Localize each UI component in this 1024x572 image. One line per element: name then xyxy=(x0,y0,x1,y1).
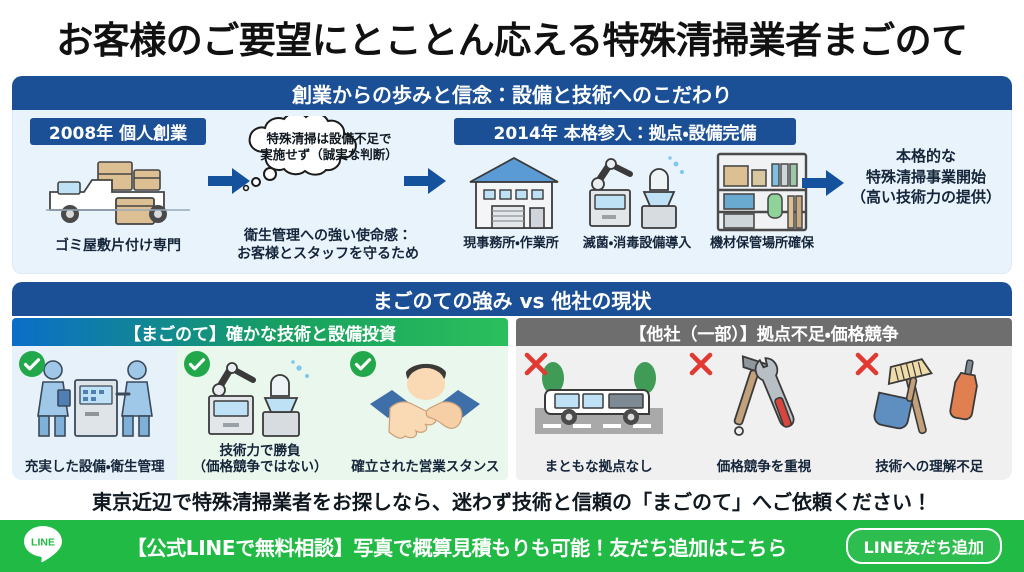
bad-item-1-line1: まともな拠点なし xyxy=(545,459,653,475)
bad-item-3-line1: 技術への理解不足 xyxy=(875,459,983,475)
cross-icon xyxy=(522,350,550,382)
good-item-3-line1: 確立された営業スタンス xyxy=(351,459,499,475)
timeline-outcome: 本格的な 特殊清掃事業開始 （高い技術力の提供） xyxy=(840,146,1012,208)
badge-2008: 2008年 個人創業 xyxy=(30,118,206,145)
bad-item-2: 価格競争を重視 xyxy=(681,346,846,480)
cross-icon xyxy=(853,350,881,382)
bad-item-3-label: 技術への理解不足 xyxy=(875,459,983,475)
closing-tagline: 東京近辺で特殊清掃業者をお探しなら、迷わず技術と信頼の「まごのて」へご依頼くださ… xyxy=(0,484,1024,516)
line-logo-icon: LINE xyxy=(22,524,64,568)
truck-caption: ゴミ屋敷片付け専門 xyxy=(30,238,206,256)
column-magonote-header: 【まごのて】確かな技術と設備投資 xyxy=(12,318,508,346)
storage-caption: 機材保管場所確保 xyxy=(702,236,822,252)
mission-line-2: お客様とスタッフを守るため xyxy=(228,246,428,264)
timeline-heading: 創業からの歩みと信念：設備と技術へのこだわり xyxy=(12,76,1012,110)
warehouse-icon xyxy=(464,152,564,236)
good-item-2: 技術力で勝負 （価格競争ではない） xyxy=(177,346,342,480)
bad-item-3: 技術への理解不足 xyxy=(847,346,1012,480)
storage-shelf-icon xyxy=(712,150,812,238)
page-title: お客様のご要望にとことん応える特殊清掃業者まごのて xyxy=(0,6,1024,68)
badge-2014: 2014年 本格参入：拠点・設備完備 xyxy=(454,118,796,145)
column-competitors: 【他社（一部）】拠点不足・価格競争 xyxy=(516,318,1012,480)
column-magonote: 【まごのて】確かな技術と設備投資 xyxy=(12,318,508,480)
outcome-line-3: （高い技術力の提供） xyxy=(840,187,1012,208)
warehouse-caption: 現事務所・作業所 xyxy=(452,236,570,252)
timeline-panel: 創業からの歩みと信念：設備と技術へのこだわり 2008年 個人創業 xyxy=(12,76,1012,274)
bad-item-1: まともな拠点なし xyxy=(516,346,681,480)
outcome-line-1: 本格的な xyxy=(840,146,1012,167)
good-item-2-label: 技術力で勝負 （価格競争ではない） xyxy=(192,443,327,475)
timeline-body: 2008年 個人創業 xyxy=(12,110,1012,274)
comparison-panel: まごのての強み vs 他社の現状 【まごのて】確かな技術と設備投資 xyxy=(12,282,1012,480)
line-footer-message: 【公式LINEで無料相談】写真で概算見積もりも可能！友だち追加はこちら xyxy=(64,532,846,561)
infographic-page: お客様のご要望にとことん応える特殊清掃業者まごのて 創業からの歩みと信念：設備と… xyxy=(0,0,1024,572)
line-footer-bar[interactable]: LINE 【公式LINEで無料相談】写真で概算見積もりも可能！友だち追加はこちら… xyxy=(0,520,1024,572)
cross-icon xyxy=(687,350,715,382)
mission-line-1: 衛生管理への強い使命感： xyxy=(228,228,428,246)
line-logo-text: LINE xyxy=(31,537,55,549)
good-item-1-line1: 充実した設備・衛生管理 xyxy=(25,459,165,475)
comparison-heading: まごのての強み vs 他社の現状 xyxy=(12,282,1012,316)
thought-line-1: 特殊清掃は設備不足で xyxy=(266,131,391,147)
thought-line-2: 実施せず（誠実な判断） xyxy=(260,147,398,163)
good-item-2-line2: （価格競争ではない） xyxy=(192,459,327,475)
bad-item-1-label: まともな拠点なし xyxy=(545,459,653,475)
thought-bubble-text: 特殊清掃は設備不足で 実施せず（誠実な判断） xyxy=(234,116,424,178)
check-icon xyxy=(18,350,46,382)
delivery-truck-icon xyxy=(40,148,200,238)
good-item-1-label: 充実した設備・衛生管理 xyxy=(25,459,165,475)
line-add-friend-button[interactable]: LINE友だち追加 xyxy=(846,528,1002,564)
column-competitors-header: 【他社（一部）】拠点不足・価格競争 xyxy=(516,318,1012,346)
sterilizer-caption: 滅菌・消毒設備導入 xyxy=(572,236,702,252)
check-icon xyxy=(349,350,377,382)
good-item-1: 充実した設備・衛生管理 xyxy=(12,346,177,480)
bad-item-2-label: 価格競争を重視 xyxy=(717,459,812,475)
bad-item-2-line1: 価格競争を重視 xyxy=(717,459,812,475)
sterilizer-robot-icon xyxy=(584,148,694,238)
mission-caption: 衛生管理への強い使命感： お客様とスタッフを守るため xyxy=(228,228,428,263)
check-icon xyxy=(183,350,211,382)
thought-bubble: 特殊清掃は設備不足で 実施せず（誠実な判断） xyxy=(234,116,424,196)
outcome-line-2: 特殊清掃事業開始 xyxy=(840,167,1012,188)
good-item-3-label: 確立された営業スタンス xyxy=(351,459,499,475)
good-item-3: 確立された営業スタンス xyxy=(343,346,508,480)
comparison-columns: 【まごのて】確かな技術と設備投資 xyxy=(12,318,1012,480)
